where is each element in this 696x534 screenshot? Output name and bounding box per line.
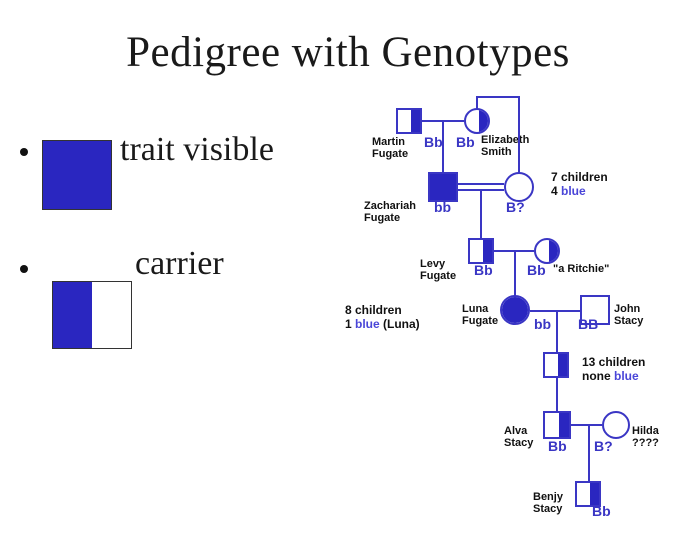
annotation-gen2-line2-blue: blue <box>561 184 586 198</box>
individual-hilda <box>602 411 630 439</box>
annotation-gen4-line1: 8 children <box>345 303 402 317</box>
annotation-gen5: 13 children none blue <box>582 355 645 383</box>
descent-line-gen4 <box>556 310 558 356</box>
genotype-hilda: B? <box>594 438 613 454</box>
annotation-gen4: 8 children 1 blue (Luna) <box>345 303 420 331</box>
label-martin-fugate: Martin Fugate <box>372 136 408 160</box>
legend-bullet-carrier <box>20 265 28 273</box>
ancestry-bracket-right <box>518 96 520 180</box>
mating-line-gen2-upper <box>458 183 504 185</box>
legend-bullet-trait-visible <box>20 148 28 156</box>
label-elizabeth-smith: Elizabeth Smith <box>481 134 529 158</box>
fill-half-right <box>483 238 494 264</box>
individual-elizabeth-smith <box>464 108 490 134</box>
genotype-benjy-stacy: Bb <box>592 503 611 519</box>
pedigree-slide: Pedigree with Genotypes trait visible ca… <box>0 0 696 534</box>
annotation-gen4-line2-blue: blue <box>355 317 380 331</box>
individual-zachariah-fugate <box>428 172 458 202</box>
fill-half-right <box>558 352 569 378</box>
label-a-ritchie: "a Ritchie" <box>553 263 609 275</box>
page-title: Pedigree with Genotypes <box>0 28 696 77</box>
fill-half-right <box>411 108 422 134</box>
label-zachariah-fugate: Zachariah Fugate <box>364 200 416 224</box>
annotation-gen4-line2-prefix: 1 <box>345 317 355 331</box>
fill-half-right <box>479 108 490 134</box>
label-levy-fugate: Levy Fugate <box>420 258 456 282</box>
genotype-john-stacy: BB <box>578 316 598 332</box>
individual-levy-fugate <box>468 238 494 264</box>
descent-line-gen1 <box>442 120 444 180</box>
annotation-gen4-line2-suffix: (Luna) <box>380 317 420 331</box>
legend-swatch-carrier <box>52 281 132 349</box>
individual-a-ritchie <box>534 238 560 264</box>
genotype-a-ritchie: Bb <box>527 262 546 278</box>
individual-unnamed-gen5 <box>543 352 569 378</box>
legend-swatch-trait-visible <box>42 140 112 210</box>
genotype-zachariah-fugate: bb <box>434 199 451 215</box>
descent-line-gen2 <box>480 189 482 243</box>
fill-full <box>500 295 530 325</box>
genotype-elizabeth-smith: Bb <box>456 134 475 150</box>
mating-line-gen6 <box>571 424 602 426</box>
fill-half-right <box>549 238 560 264</box>
legend-label-trait-visible: trait visible <box>120 131 274 169</box>
individual-luna-fugate <box>500 295 530 325</box>
annotation-gen5-line2-prefix: none <box>582 369 614 383</box>
annotation-gen2: 7 children 4 blue <box>551 170 608 198</box>
genotype-zachariah-wife: B? <box>506 199 525 215</box>
fill-half-right <box>559 411 571 439</box>
descent-line-gen6 <box>588 424 590 482</box>
annotation-gen5-line2-blue: blue <box>614 369 639 383</box>
label-john-stacy: John Stacy <box>614 303 643 327</box>
genotype-alva-stacy: Bb <box>548 438 567 454</box>
ancestry-bracket-top <box>476 96 520 98</box>
genotype-levy-fugate: Bb <box>474 262 493 278</box>
legend-label-carrier: carrier <box>135 245 224 283</box>
genotype-luna-fugate: bb <box>534 316 551 332</box>
label-hilda: Hilda ???? <box>632 425 659 449</box>
label-alva-stacy: Alva Stacy <box>504 425 533 449</box>
descent-line-gen5 <box>556 378 558 412</box>
swatch-fill-full <box>43 141 111 209</box>
label-luna-fugate: Luna Fugate <box>462 303 498 327</box>
mating-line-gen4 <box>530 310 580 312</box>
swatch-fill-left-half <box>53 282 92 348</box>
individual-alva-stacy <box>543 411 571 439</box>
label-benjy-stacy: Benjy Stacy <box>533 491 563 515</box>
genotype-martin-fugate: Bb <box>424 134 443 150</box>
individual-martin-fugate <box>396 108 422 134</box>
annotation-gen5-line1: 13 children <box>582 355 645 369</box>
annotation-gen2-line2-prefix: 4 <box>551 184 561 198</box>
fill-full <box>428 172 458 202</box>
annotation-gen2-line1: 7 children <box>551 170 608 184</box>
individual-zachariah-wife <box>504 172 534 202</box>
